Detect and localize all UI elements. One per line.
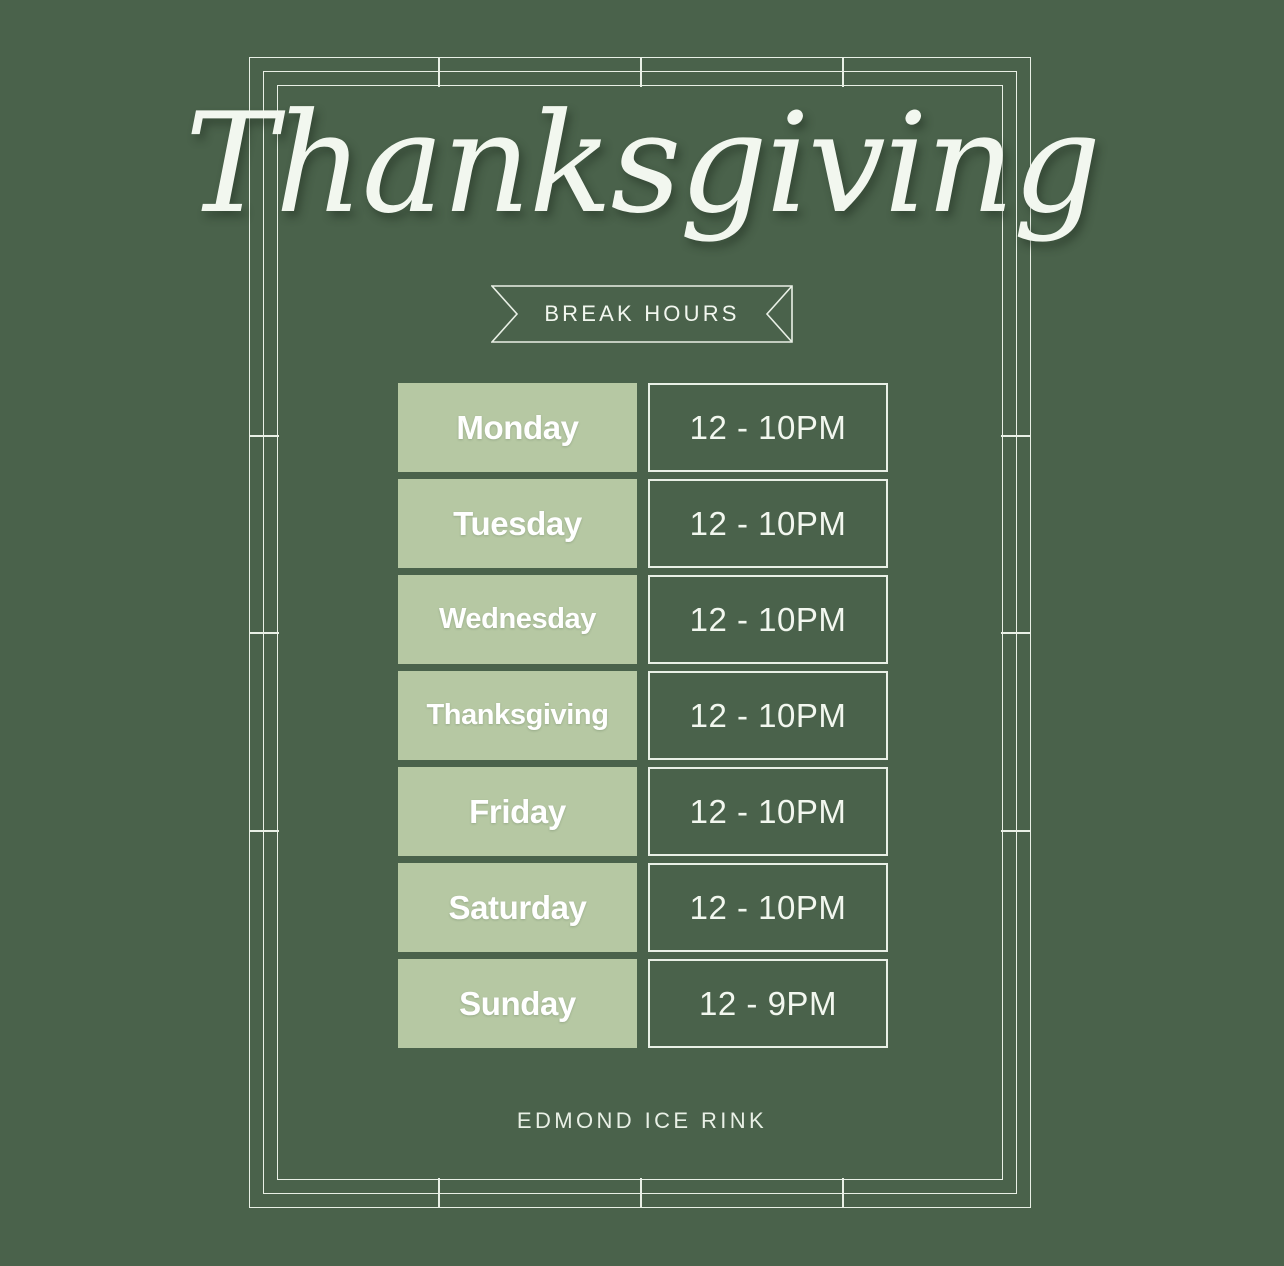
day-label-wednesday: Wednesday	[398, 575, 637, 664]
hours-value-sunday: 12 - 9PM	[648, 959, 888, 1048]
day-label-monday: Monday	[398, 383, 637, 472]
frame-tick-right-upper	[1001, 435, 1031, 437]
day-label-friday: Friday	[398, 767, 637, 856]
table-row: Friday 12 - 10PM	[398, 767, 888, 856]
day-label-tuesday: Tuesday	[398, 479, 637, 568]
hours-value-saturday: 12 - 10PM	[648, 863, 888, 952]
banner-label: BREAK HOURS	[491, 285, 793, 343]
table-row: Monday 12 - 10PM	[398, 383, 888, 472]
frame-tick-right-lower	[1001, 830, 1031, 832]
frame-tick-left-middle	[249, 632, 279, 634]
venue-name: EDMOND ICE RINK	[0, 1108, 1284, 1134]
frame-tick-bottom-left	[438, 1178, 440, 1208]
hours-value-wednesday: 12 - 10PM	[648, 575, 888, 664]
table-row: Saturday 12 - 10PM	[398, 863, 888, 952]
page-title: Thanksgiving	[0, 92, 1284, 237]
frame-tick-left-lower	[249, 830, 279, 832]
day-label-sunday: Sunday	[398, 959, 637, 1048]
hours-value-monday: 12 - 10PM	[648, 383, 888, 472]
hours-value-friday: 12 - 10PM	[648, 767, 888, 856]
hours-value-tuesday: 12 - 10PM	[648, 479, 888, 568]
table-row: Wednesday 12 - 10PM	[398, 575, 888, 664]
frame-tick-right-middle	[1001, 632, 1031, 634]
frame-tick-left-upper	[249, 435, 279, 437]
frame-tick-bottom-center	[640, 1178, 642, 1208]
table-row: Thanksgiving 12 - 10PM	[398, 671, 888, 760]
frame-tick-bottom-right	[842, 1178, 844, 1208]
thanksgiving-hours-poster: Thanksgiving BREAK HOURS Monday 12 - 10P…	[0, 0, 1284, 1266]
schedule-table: Monday 12 - 10PM Tuesday 12 - 10PM Wedne…	[398, 383, 888, 1055]
hours-value-thanksgiving: 12 - 10PM	[648, 671, 888, 760]
break-hours-banner: BREAK HOURS	[491, 285, 793, 343]
day-label-saturday: Saturday	[398, 863, 637, 952]
day-label-thanksgiving: Thanksgiving	[398, 671, 637, 760]
table-row: Sunday 12 - 9PM	[398, 959, 888, 1048]
table-row: Tuesday 12 - 10PM	[398, 479, 888, 568]
